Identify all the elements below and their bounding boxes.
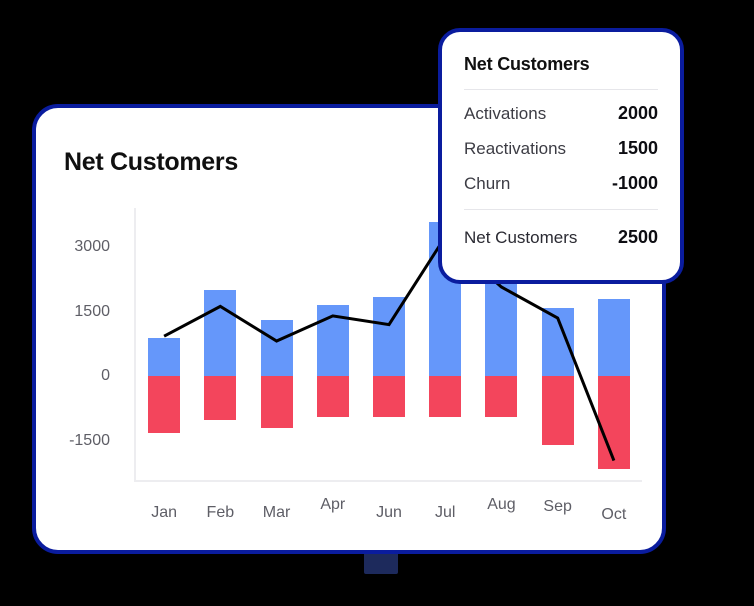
x-axis-tick-label: Apr [320, 496, 345, 514]
x-axis: JanFebMarAprJunJulAugSepOct [136, 496, 642, 530]
tooltip-row-value: 1500 [618, 138, 658, 159]
y-axis-tick-label: 3000 [74, 238, 110, 256]
tooltip-divider-top [464, 89, 658, 90]
x-axis-tick-label: Jan [151, 504, 177, 522]
tooltip-row-label: Churn [464, 174, 510, 194]
tooltip-total-value: 2500 [618, 227, 658, 248]
y-axis-tick-label: 0 [101, 367, 110, 385]
x-axis-tick-label: Mar [263, 504, 291, 522]
x-axis-tick-label: Sep [543, 498, 571, 516]
x-axis-tick-label: Jun [376, 504, 402, 522]
tooltip-row-label: Reactivations [464, 139, 566, 159]
y-axis-tick-label: 1500 [74, 303, 110, 321]
x-axis-line [134, 480, 642, 482]
tooltip-row-value: -1000 [612, 173, 658, 194]
y-axis: 300015000-1500 [56, 208, 120, 488]
tooltip-row: Churn-1000 [464, 166, 658, 201]
tooltip-row: Activations2000 [464, 96, 658, 131]
screenshot-stage: Net Customers 300015000-1500 JanFebMarAp… [0, 0, 754, 606]
x-axis-tick-label: Jul [435, 504, 455, 522]
tooltip-row-value: 2000 [618, 103, 658, 124]
x-axis-tick-label: Aug [487, 496, 515, 514]
tooltip-title: Net Customers [464, 54, 658, 75]
chart-tooltip: Net Customers Activations2000Reactivatio… [438, 28, 684, 284]
tooltip-total-row: Net Customers 2500 [464, 220, 658, 255]
x-axis-tick-label: Feb [207, 504, 235, 522]
y-axis-tick-label: -1500 [69, 432, 110, 450]
tooltip-divider-bottom [464, 209, 658, 210]
tooltip-rows: Activations2000Reactivations1500Churn-10… [464, 96, 658, 201]
tooltip-row-label: Activations [464, 104, 546, 124]
x-axis-tick-label: Oct [601, 506, 626, 524]
chart-title: Net Customers [64, 148, 238, 177]
tooltip-total-label: Net Customers [464, 228, 577, 248]
tooltip-row: Reactivations1500 [464, 131, 658, 166]
